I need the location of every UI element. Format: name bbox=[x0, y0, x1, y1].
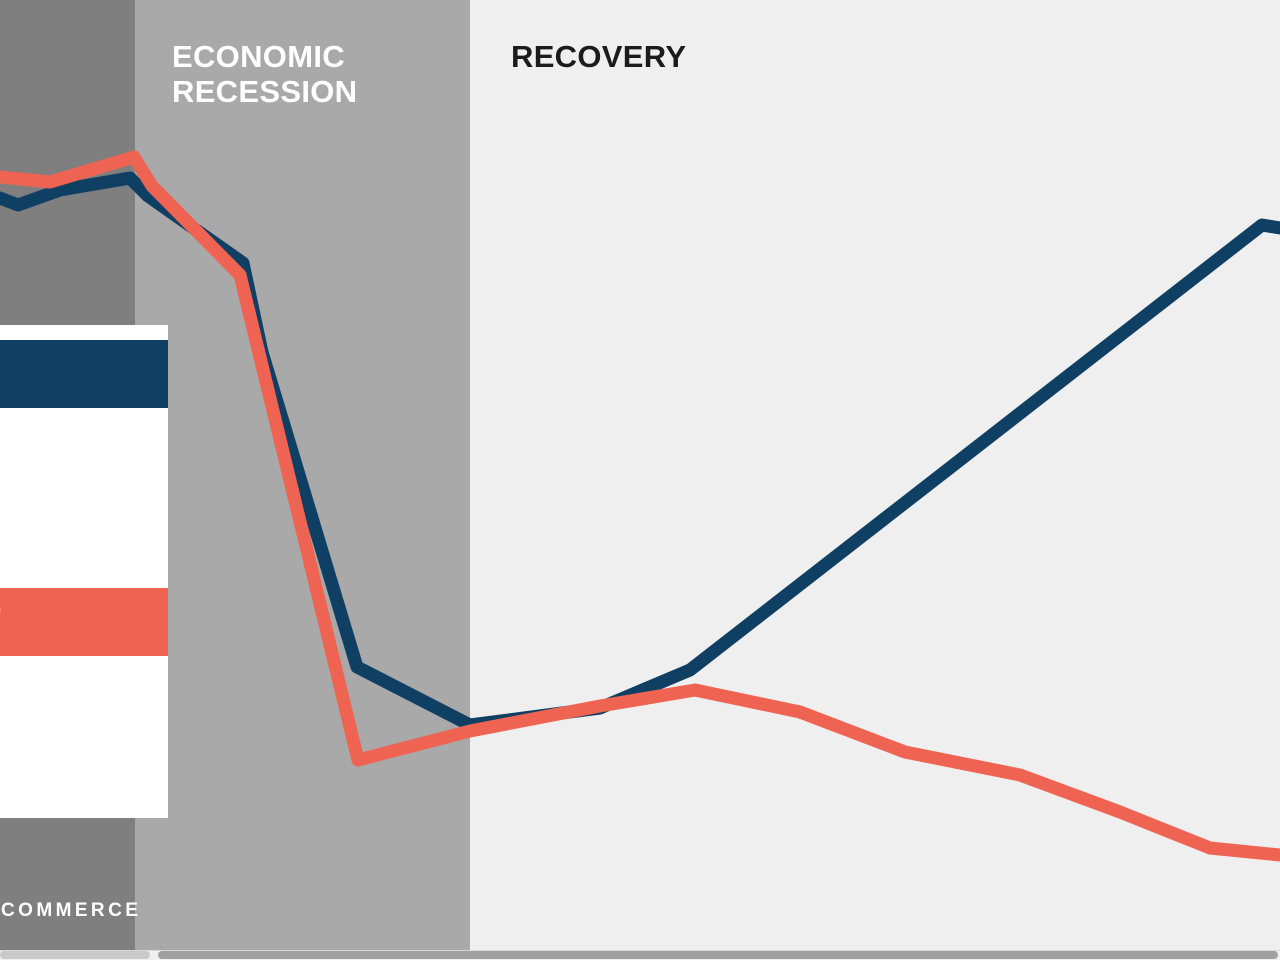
legend-items-navy: GY SERVICES bbox=[0, 420, 168, 534]
legend-swatch-red: S NEEDING E bbox=[0, 588, 168, 656]
legend-group-red: S NEEDING E MENT Y ICES bbox=[0, 588, 168, 782]
scrollbar-thumb[interactable] bbox=[158, 951, 1278, 959]
legend-swatch-navy: G S bbox=[0, 340, 168, 408]
legend-group-navy: G S GY SERVICES bbox=[0, 340, 168, 534]
horizontal-scrollbar[interactable] bbox=[0, 950, 1280, 960]
series-line-navy bbox=[0, 178, 1280, 725]
chart-legend: G S GY SERVICES S NEEDING E MENT Y ICES bbox=[0, 325, 168, 818]
line-plot bbox=[0, 0, 1280, 960]
source-credit: BER OF COMMERCE bbox=[0, 900, 141, 922]
series-line-red bbox=[0, 157, 1280, 855]
scrollbar-thumb-left[interactable] bbox=[0, 951, 150, 959]
legend-items-red: MENT Y ICES bbox=[0, 668, 168, 782]
chart-canvas: D S ECONOMIC RECESSION RECOVERY G S GY S… bbox=[0, 0, 1280, 960]
